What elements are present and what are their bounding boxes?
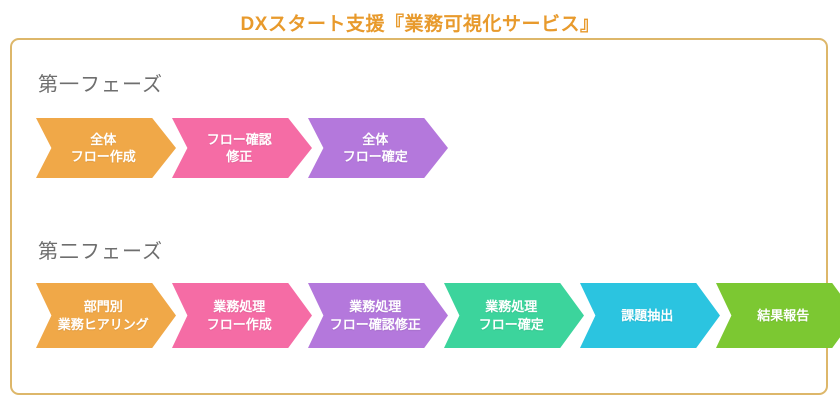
process-step-chevron[interactable]: 業務処理フロー確認修正 xyxy=(308,283,448,348)
process-step-chevron[interactable]: 課題抽出 xyxy=(580,283,720,348)
process-step-chevron[interactable]: 結果報告 xyxy=(716,283,840,348)
process-step-chevron[interactable]: 部門別業務ヒアリング xyxy=(36,283,176,348)
phase-1-chevron-row: 全体フロー作成フロー確認修正全体フロー確定 xyxy=(36,118,444,178)
process-step-label: フロー確認修正 xyxy=(198,131,285,165)
process-step-label: 部門別業務ヒアリング xyxy=(49,298,162,332)
process-step-label: 業務処理フロー確認修正 xyxy=(321,298,434,332)
process-step-label: 業務処理フロー確定 xyxy=(470,298,557,332)
process-step-line1: 業務処理 xyxy=(485,299,537,314)
process-step-line2: フロー作成 xyxy=(71,149,136,164)
process-step-line2: フロー確認修正 xyxy=(330,317,421,332)
phase-2-label: 第二フェーズ xyxy=(38,235,163,264)
process-step-line1: 業務処理 xyxy=(349,299,401,314)
process-step-line2: 修正 xyxy=(226,149,252,164)
process-step-line1: 全体 xyxy=(362,132,388,147)
process-step-line1: 結果報告 xyxy=(757,308,809,323)
process-step-label: 業務処理フロー作成 xyxy=(198,298,285,332)
process-step-label: 結果報告 xyxy=(749,307,823,324)
page-title: DXスタート支援『業務可視化サービス』 xyxy=(0,9,840,36)
process-step-chevron[interactable]: 全体フロー作成 xyxy=(36,118,176,178)
process-step-line2: 業務ヒアリング xyxy=(58,317,149,332)
process-step-line2: フロー確定 xyxy=(479,317,544,332)
process-step-line2: フロー確定 xyxy=(343,149,408,164)
phase-2-chevron-row: 部門別業務ヒアリング業務処理フロー作成業務処理フロー確認修正業務処理フロー確定課… xyxy=(36,283,840,348)
process-step-chevron[interactable]: 業務処理フロー作成 xyxy=(172,283,312,348)
diagram-page: DXスタート支援『業務可視化サービス』 第一フェーズ 全体フロー作成フロー確認修… xyxy=(0,0,840,420)
process-step-line1: 課題抽出 xyxy=(621,308,673,323)
process-step-label: 全体フロー作成 xyxy=(62,131,149,165)
process-step-line2: フロー作成 xyxy=(207,317,272,332)
process-step-line1: 全体 xyxy=(90,132,116,147)
process-step-line1: 部門別 xyxy=(84,299,123,314)
phase-1-label: 第一フェーズ xyxy=(38,68,163,97)
process-step-label: 課題抽出 xyxy=(613,307,687,324)
process-step-chevron[interactable]: 全体フロー確定 xyxy=(308,118,448,178)
process-step-chevron[interactable]: フロー確認修正 xyxy=(172,118,312,178)
process-step-line1: 業務処理 xyxy=(213,299,265,314)
process-step-chevron[interactable]: 業務処理フロー確定 xyxy=(444,283,584,348)
process-step-line1: フロー確認 xyxy=(207,132,272,147)
process-step-label: 全体フロー確定 xyxy=(334,131,421,165)
